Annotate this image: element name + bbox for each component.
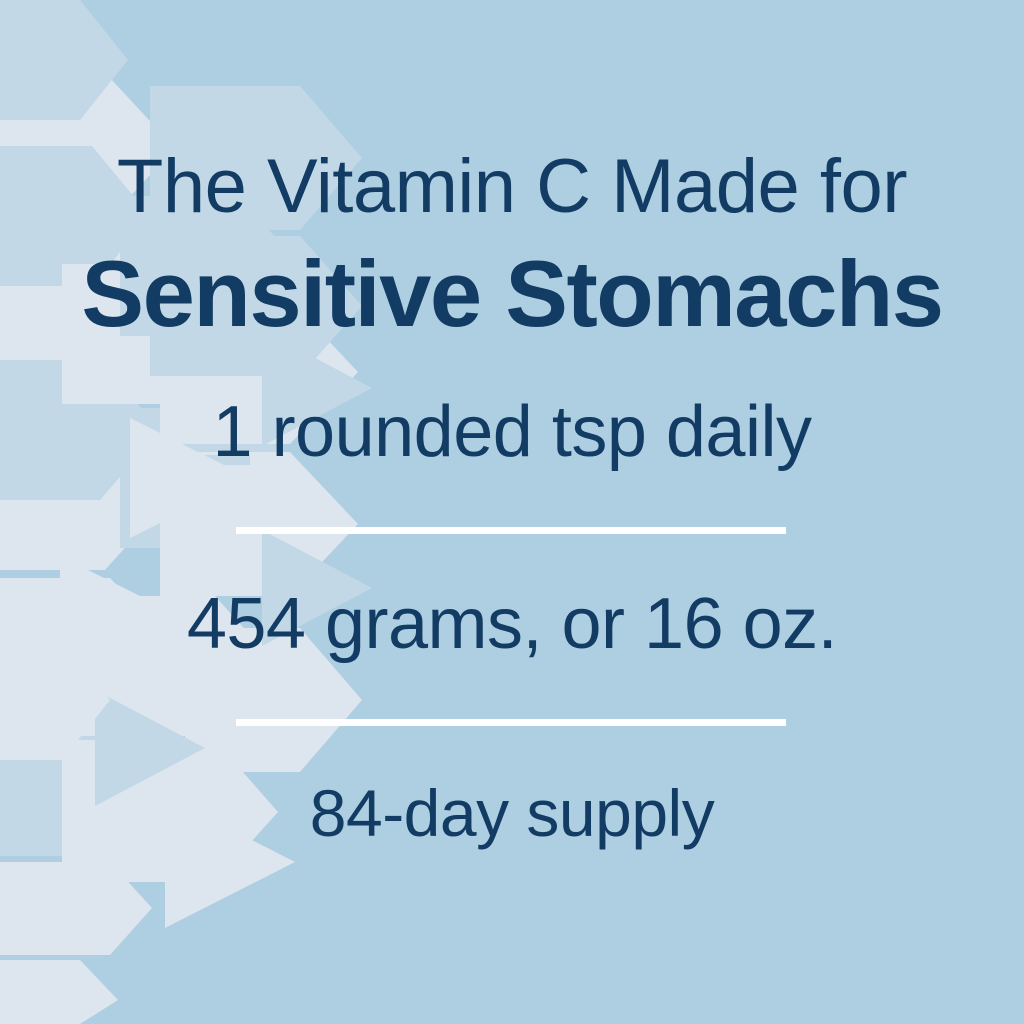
headline-line-2: Sensitive Stomachs [0,238,1024,350]
divider-rule-1 [236,527,786,534]
divider-rule-2 [236,719,786,726]
fact-weight: 454 grams, or 16 oz. [0,580,1024,668]
fact-supply: 84-day supply [0,772,1024,854]
fact-dosage: 1 rounded tsp daily [0,388,1024,476]
content-stack: The Vitamin C Made for Sensitive Stomach… [0,0,1024,1024]
product-info-card: The Vitamin C Made for Sensitive Stomach… [0,0,1024,1024]
headline-line-1: The Vitamin C Made for [0,142,1024,232]
